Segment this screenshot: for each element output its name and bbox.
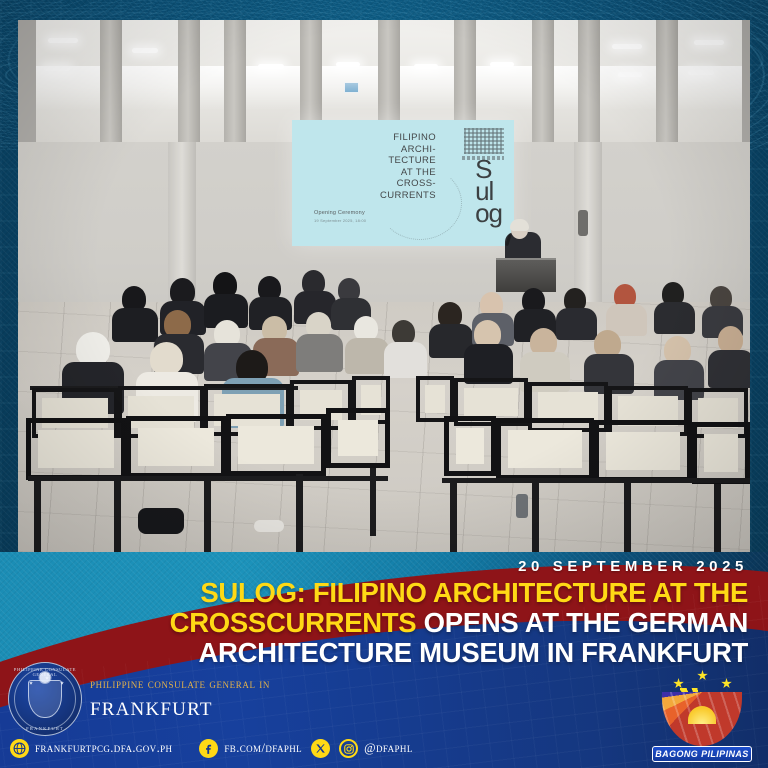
facebook-icon xyxy=(199,739,218,758)
globe-icon xyxy=(10,739,29,758)
instagram-handle: @DFAPHL xyxy=(364,741,413,756)
seal-bottom-text: FRANKFURT xyxy=(9,726,81,731)
consulate-seal-icon: PHILIPPINE CONSULATE GENERAL FRANKFURT xyxy=(8,662,82,736)
photo-vignette xyxy=(18,20,750,552)
bagong-pilipinas-logo: BAGONG PILIPINAS xyxy=(648,666,756,762)
consulate-lockup: PHILIPPINE CONSULATE GENERAL FRANKFURT P… xyxy=(8,662,270,736)
website-link[interactable]: FRANKFURTPCG.DFA.GOV.PH xyxy=(10,739,172,758)
event-photograph: FILIPINO ARCHI- TECTURE AT THE CROSS- CU… xyxy=(18,20,750,552)
consulate-subtitle: Philippine Consulate General in xyxy=(90,678,270,691)
social-links-row: FRANKFURTPCG.DFA.GOV.PH FB.COM/DFAPHL xyxy=(10,739,413,758)
poster-canvas: FILIPINO ARCHI- TECTURE AT THE CROSS- CU… xyxy=(0,0,768,768)
consulate-city: FRANKFURT xyxy=(90,693,270,720)
facebook-handle: FB.COM/DFAPHL xyxy=(224,741,302,756)
consulate-text-block: Philippine Consulate General in FRANKFUR… xyxy=(90,678,270,720)
website-url: FRANKFURTPCG.DFA.GOV.PH xyxy=(35,741,172,756)
title-banner: 20 SEPTEMBER 2025 SULOG: FILIPINO ARCHIT… xyxy=(0,552,768,768)
event-date: 20 SEPTEMBER 2025 xyxy=(518,558,748,575)
photo-scene: FILIPINO ARCHI- TECTURE AT THE CROSS- CU… xyxy=(18,20,750,552)
headline: SULOG: FILIPINO ARCHITECTURE AT THE CROS… xyxy=(108,578,748,668)
facebook-link[interactable]: FB.COM/DFAPHL xyxy=(199,739,302,758)
instagram-icon xyxy=(339,739,358,758)
logo-star-icon xyxy=(697,670,708,681)
instagram-link[interactable]: @DFAPHL xyxy=(339,739,413,758)
x-twitter-icon xyxy=(311,739,330,758)
x-twitter-link[interactable] xyxy=(311,739,330,758)
logo-label: BAGONG PILIPINAS xyxy=(652,746,752,762)
